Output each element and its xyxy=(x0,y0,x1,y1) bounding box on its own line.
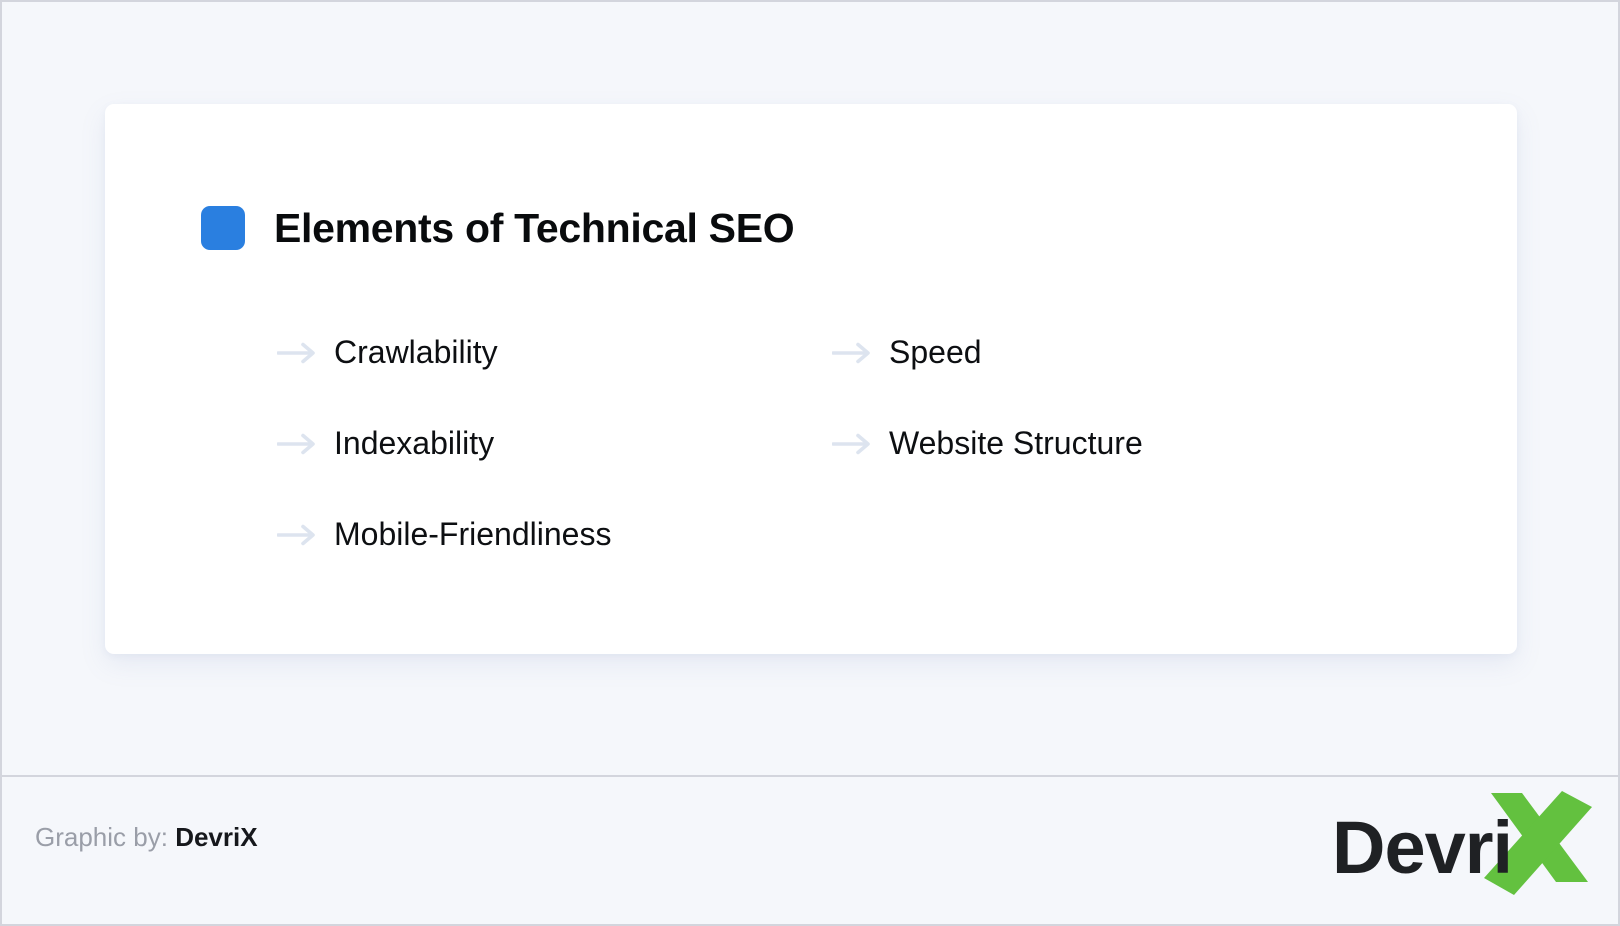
page-title: Elements of Technical SEO xyxy=(274,208,794,249)
list-item-label: Crawlability xyxy=(334,335,498,370)
list-item: Crawlability xyxy=(277,335,832,370)
elements-list: Crawlability Indexability Mobile-Friendl… xyxy=(277,307,1437,580)
list-item: Indexability xyxy=(277,426,832,461)
arrow-right-icon xyxy=(277,431,319,457)
blue-square-icon xyxy=(201,206,245,250)
list-item: Website Structure xyxy=(832,426,1387,461)
footer: Graphic by: DevriX Devri xyxy=(2,777,1618,924)
credit-prefix: Graphic by: xyxy=(35,822,168,852)
list-item: Speed xyxy=(832,335,1387,370)
devrix-wordmark: Devri xyxy=(1332,806,1512,889)
infographic-page: { "card": { "heading": "Elements of Tech… xyxy=(0,0,1620,926)
arrow-right-icon xyxy=(277,340,319,366)
list-item-label: Website Structure xyxy=(889,426,1143,461)
seo-elements-card: Elements of Technical SEO Crawlability I… xyxy=(105,104,1517,654)
arrow-right-icon xyxy=(277,522,319,548)
credit-line: Graphic by: DevriX xyxy=(35,824,258,850)
arrow-right-icon xyxy=(832,340,874,366)
list-item-label: Indexability xyxy=(334,426,494,461)
devrix-logo[interactable]: Devri xyxy=(1326,785,1596,900)
card-heading: Elements of Technical SEO xyxy=(201,206,794,250)
list-item: Mobile-Friendliness xyxy=(277,517,832,552)
credit-brand: DevriX xyxy=(175,822,257,852)
infographic-stage: Elements of Technical SEO Crawlability I… xyxy=(2,2,1618,775)
list-item-label: Speed xyxy=(889,335,982,370)
arrow-right-icon xyxy=(832,431,874,457)
list-item-label: Mobile-Friendliness xyxy=(334,517,611,552)
